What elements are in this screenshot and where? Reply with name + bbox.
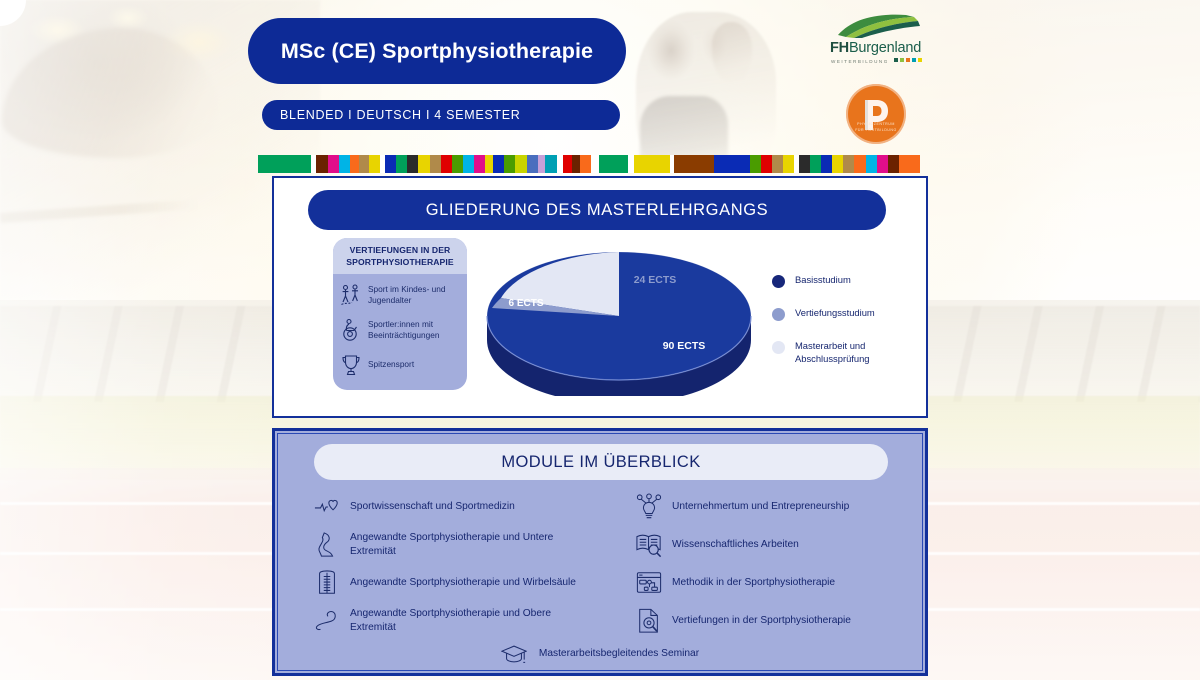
- spine-torso-icon: [314, 569, 340, 597]
- stripe-segment-32: [634, 155, 670, 173]
- book-magnifier-icon: [636, 531, 662, 559]
- module-label: Sportwissenschaft und Sportmedizin: [350, 500, 515, 514]
- ects-pie-chart: 24 ECTS 6 ECTS 90 ECTS: [479, 236, 759, 396]
- color-stripe-divider: [258, 155, 920, 173]
- list-item: Wissenschaftliches Arbeiten: [606, 526, 916, 564]
- list-item: Spitzensport: [340, 353, 461, 377]
- list-item: Sport im Kindes- und Jugendalter: [340, 283, 461, 307]
- course-meta-pill: BLENDED I DEUTSCH I 4 SEMESTER: [262, 100, 620, 130]
- fh-swoosh-icon: [836, 14, 920, 38]
- stripe-segment-46: [854, 155, 865, 173]
- specialisations-card-header: VERTIEFUNGEN IN DER SPORTPHYSIOTHERAPIE: [333, 238, 467, 274]
- stripe-segment-44: [832, 155, 843, 173]
- pie-legend: Basisstudium Vertiefungsstudium Masterar…: [772, 274, 922, 385]
- stripe-segment-36: [750, 155, 761, 173]
- stripe-segment-41: [799, 155, 810, 173]
- modules-left-column: Sportwissenschaft und Sportmedizin Angew…: [278, 488, 600, 640]
- fh-logo-wordmark: FHBurgenland: [830, 40, 930, 56]
- stripe-segment-4: [339, 155, 350, 173]
- stripe-segment-13: [430, 155, 441, 173]
- stripe-segment-15: [452, 155, 463, 173]
- list-item: Sportwissenschaft und Sportmedizin: [284, 488, 594, 526]
- specialisation-label: Sportler:innen mit Beeinträchtigungen: [368, 319, 461, 342]
- modules-grid: Sportwissenschaft und Sportmedizin Angew…: [278, 488, 922, 640]
- specialisation-label: Spitzensport: [368, 359, 414, 370]
- pie-label-90: 90 ECTS: [663, 340, 706, 352]
- heart-ecg-icon: [314, 493, 340, 521]
- stripe-segment-48: [877, 155, 888, 173]
- list-item: Sportler:innen mit Beeinträchtigungen: [340, 318, 461, 342]
- stripe-segment-49: [888, 155, 899, 173]
- modules-footer-row: Masterarbeitsbegleitendes Seminar: [278, 640, 922, 668]
- legend-item: Vertiefungsstudium: [772, 307, 922, 321]
- module-label: Angewandte Sportphysiotherapie und Unter…: [350, 531, 594, 560]
- specialisations-list: Sport im Kindes- und Jugendalter Sportle…: [333, 274, 467, 377]
- leg-knee-icon: [314, 531, 340, 559]
- physiozentrum-logo: PHYSIOZENTRUM FÜR FORTBILDUNG: [846, 84, 906, 144]
- module-label: Angewandte Sportphysiotherapie und Wirbe…: [350, 576, 576, 590]
- stripe-segment-50: [899, 155, 920, 173]
- specialisation-label: Sport im Kindes- und Jugendalter: [368, 284, 461, 307]
- stripe-segment-5: [350, 155, 359, 173]
- stripe-segment-19: [493, 155, 504, 173]
- stripe-segment-10: [396, 155, 407, 173]
- stripe-segment-2: [316, 155, 327, 173]
- legend-swatch-basisstudium: [772, 275, 785, 288]
- list-item: Angewandte Sportphysiotherapie und Unter…: [284, 526, 594, 564]
- legend-swatch-vertiefungsstudium: [772, 308, 785, 321]
- legend-label: Vertiefungsstudium: [795, 307, 875, 320]
- flowchart-window-icon: [636, 569, 662, 597]
- stripe-segment-3: [328, 155, 339, 173]
- fh-logo-fh: FH: [830, 40, 849, 56]
- stripe-segment-22: [527, 155, 538, 173]
- course-meta-text: BLENDED I DEUTSCH I 4 SEMESTER: [280, 108, 521, 122]
- stripe-segment-6: [359, 155, 368, 173]
- stripe-segment-11: [407, 155, 418, 173]
- physiozentrum-logo-text: PHYSIOZENTRUM FÜR FORTBILDUNG: [846, 122, 906, 133]
- stripe-segment-35: [714, 155, 750, 173]
- specialisations-card: VERTIEFUNGEN IN DER SPORTPHYSIOTHERAPIE …: [333, 238, 467, 390]
- list-item: Angewandte Sportphysiotherapie und Obere…: [284, 602, 594, 640]
- list-item: Methodik in der Sportphysiotherapie: [606, 564, 916, 602]
- infographic-canvas: MSc (CE) Sportphysiotherapie BLENDED I D…: [0, 0, 1200, 680]
- fh-burgenland-logo: FHBurgenland WEITERBILDUNG: [822, 14, 930, 76]
- lightbulb-network-icon: [636, 493, 662, 521]
- stripe-segment-39: [783, 155, 794, 173]
- stripe-segment-38: [772, 155, 783, 173]
- stripe-segment-16: [463, 155, 474, 173]
- list-item: Vertiefungen in der Sportphysiotherapie: [606, 602, 916, 640]
- stripe-segment-47: [866, 155, 877, 173]
- stripe-segment-28: [580, 155, 591, 173]
- list-item: Angewandte Sportphysiotherapie und Wirbe…: [284, 564, 594, 602]
- module-label: Unternehmertum und Entrepreneurship: [672, 500, 849, 514]
- module-label: Methodik in der Sportphysiotherapie: [672, 576, 835, 590]
- stripe-segment-34: [674, 155, 713, 173]
- legend-swatch-masterarbeit: [772, 341, 785, 354]
- fh-logo-dots: [894, 58, 922, 62]
- pz-line-2: FÜR FORTBILDUNG: [846, 128, 906, 133]
- module-label: Masterarbeitsbegleitendes Seminar: [539, 647, 699, 661]
- pie-chart-svg: 24 ECTS 6 ECTS 90 ECTS: [479, 236, 759, 396]
- stripe-segment-37: [761, 155, 772, 173]
- specialisations-title-line2: SPORTPHYSIOTHERAPIE: [339, 257, 461, 269]
- stripe-segment-23: [538, 155, 546, 173]
- stripe-segment-21: [515, 155, 526, 173]
- specialisations-title-line1: VERTIEFUNGEN IN DER: [339, 245, 461, 257]
- graduation-cap-icon: [501, 640, 527, 668]
- stripe-segment-12: [418, 155, 429, 173]
- stripe-segment-27: [572, 155, 580, 173]
- structure-panel: GLIEDERUNG DES MASTERLEHRGANGS VERTIEFUN…: [272, 176, 928, 418]
- wheelchair-athlete-icon: [340, 318, 362, 342]
- stripe-segment-24: [545, 155, 556, 173]
- stripe-segment-0: [258, 155, 311, 173]
- pie-label-6: 6 ECTS: [508, 298, 543, 309]
- module-label: Angewandte Sportphysiotherapie und Obere…: [350, 607, 594, 636]
- modules-panel-header: MODULE IM ÜBERBLICK: [314, 444, 888, 480]
- module-label: Vertiefungen in der Sportphysiotherapie: [672, 614, 851, 628]
- pie-label-24: 24 ECTS: [634, 274, 677, 286]
- arm-icon: [314, 607, 340, 635]
- list-item: Unternehmertum und Entrepreneurship: [606, 488, 916, 526]
- stripe-segment-30: [599, 155, 628, 173]
- stripe-segment-17: [474, 155, 485, 173]
- legend-label: Masterarbeit und Abschlussprüfung: [795, 340, 922, 366]
- stripe-segment-45: [843, 155, 854, 173]
- stripe-segment-9: [385, 155, 396, 173]
- stripe-segment-26: [563, 155, 572, 173]
- modules-panel-title: MODULE IM ÜBERBLICK: [501, 453, 700, 472]
- legend-label: Basisstudium: [795, 274, 851, 287]
- course-title-pill: MSc (CE) Sportphysiotherapie: [248, 18, 626, 84]
- modules-right-column: Unternehmertum und Entrepreneurship Wiss…: [600, 488, 922, 640]
- stripe-segment-18: [485, 155, 493, 173]
- document-magnifier-icon: [636, 607, 662, 635]
- module-label: Wissenschaftliches Arbeiten: [672, 538, 799, 552]
- structure-panel-title: GLIEDERUNG DES MASTERLEHRGANGS: [426, 201, 769, 220]
- stripe-segment-20: [504, 155, 515, 173]
- legend-item: Masterarbeit und Abschlussprüfung: [772, 340, 922, 366]
- children-sport-icon: [340, 283, 362, 307]
- trophy-icon: [340, 353, 362, 377]
- fh-logo-burgenland: Burgenland: [849, 40, 921, 56]
- legend-item: Basisstudium: [772, 274, 922, 288]
- stripe-segment-14: [441, 155, 452, 173]
- structure-panel-header: GLIEDERUNG DES MASTERLEHRGANGS: [308, 190, 886, 230]
- stripe-segment-29: [591, 155, 599, 173]
- stripe-segment-42: [810, 155, 821, 173]
- modules-panel: MODULE IM ÜBERBLICK Sportwissenschaft un…: [272, 428, 928, 676]
- page-title: MSc (CE) Sportphysiotherapie: [281, 39, 593, 64]
- stripe-segment-43: [821, 155, 832, 173]
- stripe-segment-7: [369, 155, 380, 173]
